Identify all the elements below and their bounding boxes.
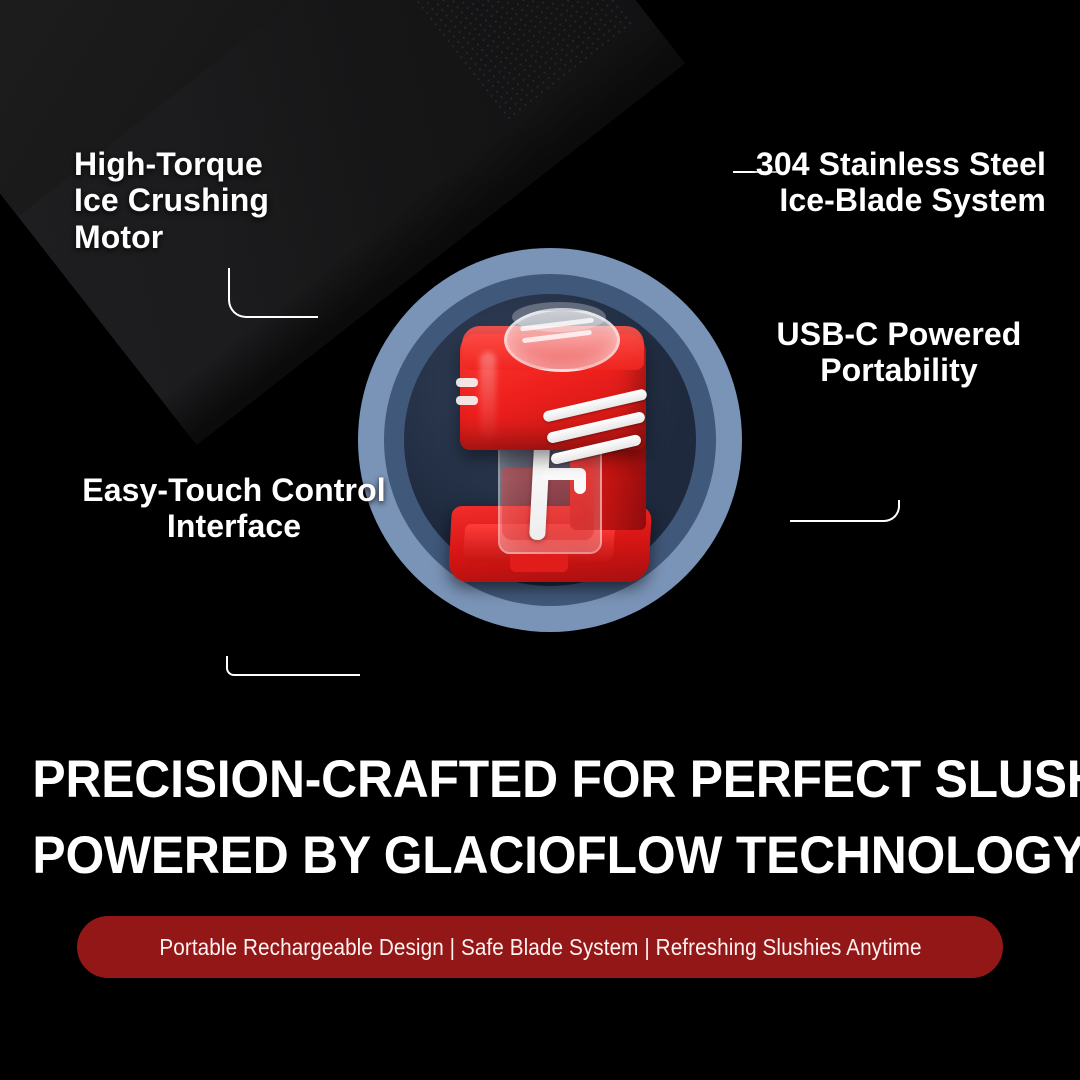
slushie-machine-image bbox=[446, 292, 658, 592]
connector-line-touch bbox=[226, 656, 360, 676]
feature-label-motor-line2: Ice Crushing bbox=[74, 182, 404, 218]
machine-control-button bbox=[456, 396, 478, 405]
feature-label-usb-line2: Portability bbox=[754, 352, 1044, 388]
machine-body-highlight bbox=[480, 352, 496, 444]
feature-label-blade-line1: 304 Stainless Steel bbox=[700, 146, 1046, 182]
connector-line-usb bbox=[790, 500, 900, 522]
poster-canvas: ⇧ ◀ ▶ bbox=[0, 0, 1080, 1080]
feature-label-motor-line1: High-Torque bbox=[74, 146, 404, 182]
feature-label-usb: USB-C Powered Portability bbox=[754, 316, 1044, 389]
feature-label-motor-line3: Motor bbox=[74, 219, 404, 255]
headline-line-1: PRECISION-CRAFTED FOR PERFECT SLUSHIES bbox=[32, 742, 1047, 818]
product-badge-circle bbox=[358, 248, 742, 632]
feature-label-touch: Easy-Touch Control Interface bbox=[60, 472, 408, 545]
machine-control-button bbox=[456, 378, 478, 387]
headline-line-2: POWERED BY GLACIOFLOW TECHNOLOGY bbox=[32, 818, 1047, 894]
feature-label-touch-line1: Easy-Touch Control bbox=[60, 472, 408, 508]
machine-tray-notch bbox=[510, 554, 568, 572]
feature-label-motor: High-Torque Ice Crushing Motor bbox=[74, 146, 404, 255]
feature-banner-text: Portable Rechargeable Design | Safe Blad… bbox=[159, 934, 921, 961]
feature-banner-pill: Portable Rechargeable Design | Safe Blad… bbox=[77, 916, 1003, 978]
feature-label-touch-line2: Interface bbox=[60, 508, 408, 544]
headline: PRECISION-CRAFTED FOR PERFECT SLUSHIES P… bbox=[32, 742, 1047, 895]
connector-line-motor bbox=[228, 268, 318, 318]
machine-spout-tip bbox=[574, 468, 586, 494]
feature-label-blade-line2: Ice-Blade System bbox=[700, 182, 1046, 218]
feature-label-blade: 304 Stainless Steel Ice-Blade System bbox=[700, 146, 1046, 219]
feature-label-usb-line1: USB-C Powered bbox=[754, 316, 1044, 352]
